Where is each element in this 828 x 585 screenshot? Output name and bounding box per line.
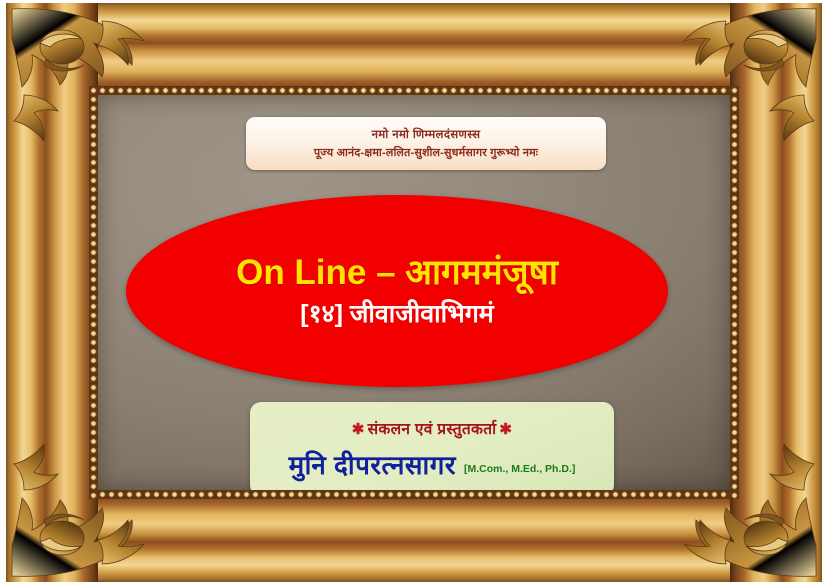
ornate-picture-frame: नमो नमो णिम्मलदंसणस्स पूज्य आनंद-क्षमा-ल… bbox=[6, 3, 822, 582]
star-icon-left: ✱ bbox=[349, 421, 368, 438]
invocation-line-1: नमो नमो णिम्मलदंसणस्स bbox=[372, 127, 481, 142]
title-ellipse: On Line – आगममंजूषा [१४] जीवाजीवाभिगमं bbox=[126, 195, 668, 387]
frame-bead-band-bottom bbox=[89, 490, 739, 499]
author-row: मुनि दीपरत्नसागर [M.Com., M.Ed., Ph.D.] bbox=[289, 446, 576, 482]
author-degrees: [M.Com., M.Ed., Ph.D.] bbox=[464, 463, 575, 475]
frame-bead-band-left bbox=[89, 86, 98, 499]
star-icon-right: ✱ bbox=[496, 421, 515, 438]
frame-molding-top bbox=[6, 3, 822, 95]
frame-molding-left bbox=[6, 3, 98, 582]
compiler-label-row: ✱संकलन एवं प्रस्तुतकर्ता✱ bbox=[349, 417, 516, 439]
sub-title: [१४] जीवाजीवाभिगमं bbox=[300, 301, 493, 327]
slide-canvas: नमो नमो णिम्मलदंसणस्स पूज्य आनंद-क्षमा-ल… bbox=[98, 95, 730, 490]
frame-bead-band-right bbox=[730, 86, 739, 499]
credits-box: ✱संकलन एवं प्रस्तुतकर्ता✱ मुनि दीपरत्नसा… bbox=[250, 402, 614, 490]
author-name: मुनि दीपरत्नसागर bbox=[289, 446, 456, 482]
compiler-label: संकलन एवं प्रस्तुतकर्ता bbox=[368, 421, 497, 438]
frame-molding-bottom bbox=[6, 490, 822, 582]
main-title: On Line – आगममंजूषा bbox=[236, 255, 558, 292]
slide-stage: नमो नमो णिम्मलदंसणस्स पूज्य आनंद-क्षमा-ल… bbox=[0, 0, 828, 585]
invocation-banner: नमो नमो णिम्मलदंसणस्स पूज्य आनंद-क्षमा-ल… bbox=[246, 117, 606, 170]
frame-bead-band-top bbox=[89, 86, 739, 95]
invocation-line-2: पूज्य आनंद-क्षमा-ललित-सुशील-सुधर्मसागर ग… bbox=[314, 145, 538, 160]
frame-molding-right bbox=[730, 3, 822, 582]
